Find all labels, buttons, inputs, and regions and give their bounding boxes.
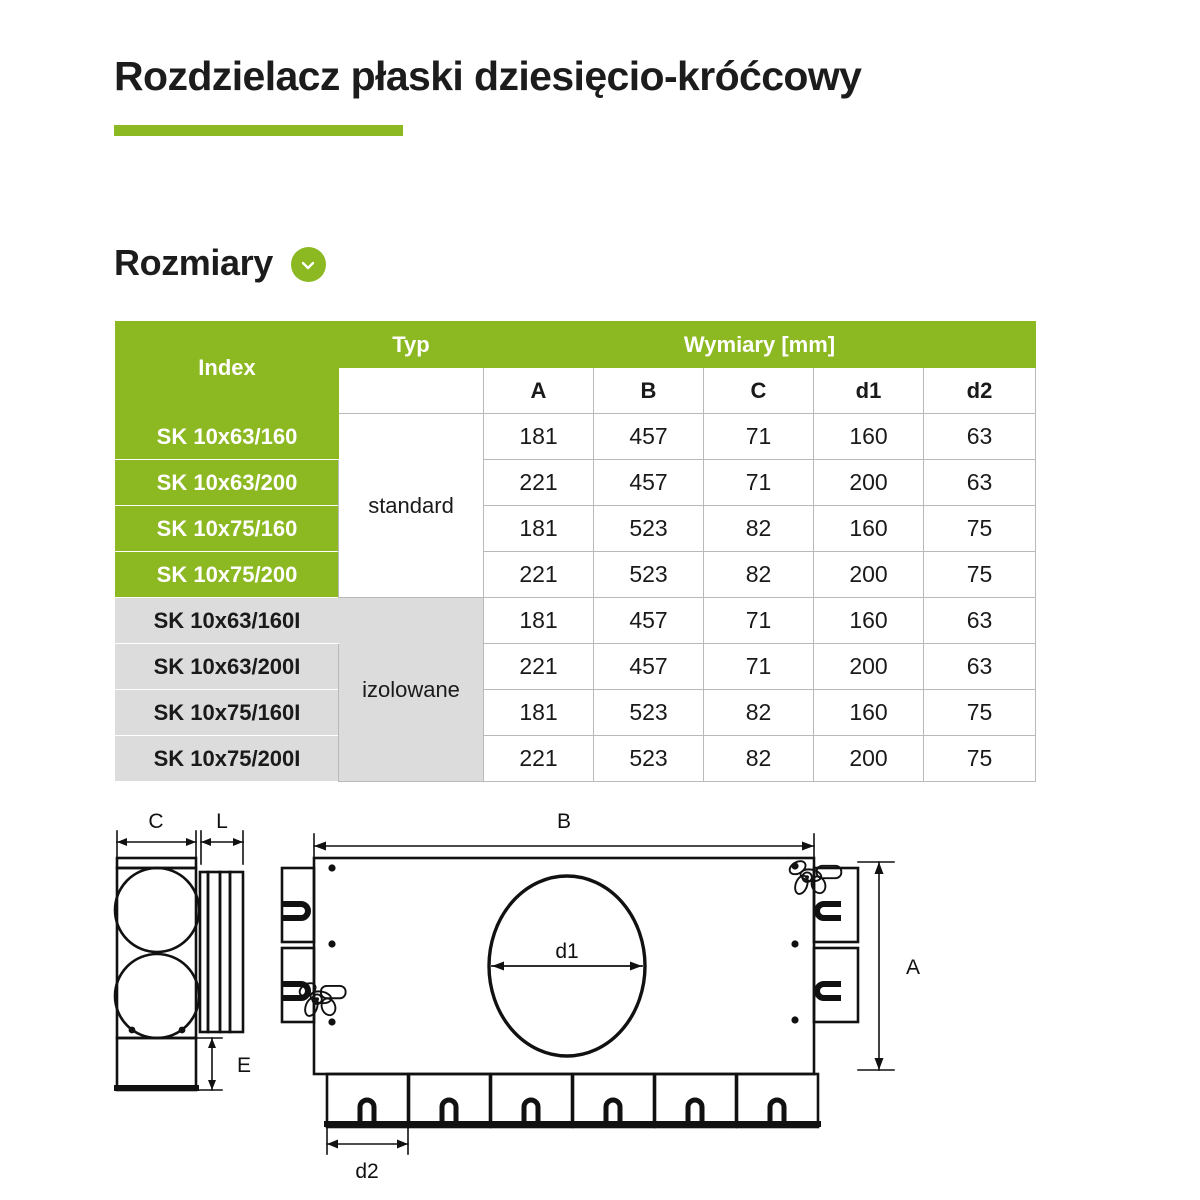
outlet-stub	[491, 1074, 572, 1127]
sizes-section-header[interactable]: Rozmiary	[114, 243, 326, 282]
cell-c: 82	[704, 506, 814, 552]
cell-b: 523	[594, 736, 704, 782]
table-row: SK 10x75/200I 221 523 82 200 75	[116, 736, 1036, 782]
cell-a: 221	[484, 460, 594, 506]
row-index: SK 10x75/160I	[116, 690, 339, 736]
label-d1: d1	[555, 940, 578, 963]
header-dim-a: A	[484, 368, 594, 414]
outlet-stub	[655, 1074, 736, 1127]
cell-b: 457	[594, 644, 704, 690]
cell-c: 82	[704, 736, 814, 782]
cell-d2: 75	[924, 736, 1036, 782]
label-d2: d2	[355, 1160, 378, 1183]
header-dim-b: B	[594, 368, 704, 414]
cell-d1: 160	[814, 414, 924, 460]
title-block: Rozdzielacz płaski dziesięcio-króćcowy	[114, 54, 1134, 136]
row-index: SK 10x63/160	[116, 414, 339, 460]
cell-a: 181	[484, 598, 594, 644]
row-index: SK 10x75/200	[116, 552, 339, 598]
label-a: A	[906, 956, 920, 979]
table-row: SK 10x75/200 221 523 82 200 75	[116, 552, 1036, 598]
outlet-stub	[327, 1074, 408, 1127]
side-circle-lower	[115, 954, 199, 1038]
product-datasheet-page: Rozdzielacz płaski dziesięcio-króćcowy R…	[0, 0, 1200, 1200]
table-row: SK 10x75/160 181 523 82 160 75	[116, 506, 1036, 552]
row-index: SK 10x63/160I	[116, 598, 339, 644]
cell-b: 523	[594, 506, 704, 552]
header-index: Index	[116, 322, 339, 414]
side-lower-box	[117, 1038, 196, 1090]
cell-c: 82	[704, 552, 814, 598]
dim-a	[858, 862, 894, 1070]
dim-e	[196, 1038, 222, 1090]
cell-c: 71	[704, 644, 814, 690]
row-index: SK 10x75/160	[116, 506, 339, 552]
cell-d1: 200	[814, 460, 924, 506]
spigot-rib-4	[230, 872, 243, 1032]
left-slot-upper	[285, 904, 308, 918]
row-index: SK 10x75/200I	[116, 736, 339, 782]
sizes-table: Index Typ Wymiary [mm] A B C d1 d2 SK 10…	[115, 321, 1036, 782]
header-dim-d1: d1	[814, 368, 924, 414]
table-row: SK 10x63/160 standard 181 457 71 160 63	[116, 414, 1036, 460]
cell-d1: 200	[814, 736, 924, 782]
cell-d2: 63	[924, 644, 1036, 690]
bottom-outlets	[327, 1074, 818, 1127]
cell-d2: 63	[924, 460, 1036, 506]
spigot-rib-3	[220, 872, 230, 1032]
cell-d1: 200	[814, 644, 924, 690]
cell-d1: 200	[814, 552, 924, 598]
chevron-down-icon[interactable]	[291, 247, 326, 282]
label-e: E	[237, 1054, 251, 1077]
table-row: SK 10x63/200I 221 457 71 200 63	[116, 644, 1036, 690]
dim-b	[314, 834, 814, 864]
technical-drawing: C L E B A d1 d2	[0, 806, 1200, 1200]
cell-a: 181	[484, 414, 594, 460]
title-accent-rule	[114, 125, 403, 136]
row-type: izolowane	[339, 598, 484, 782]
row-index: SK 10x63/200	[116, 460, 339, 506]
outlet-stub	[573, 1074, 654, 1127]
cell-d2: 75	[924, 506, 1036, 552]
side-top-flange	[117, 858, 196, 868]
outlet-stub	[737, 1074, 818, 1127]
cell-a: 181	[484, 506, 594, 552]
row-index: SK 10x63/200I	[116, 644, 339, 690]
header-typ-spacer	[339, 368, 484, 414]
cell-d2: 63	[924, 414, 1036, 460]
cell-d1: 160	[814, 506, 924, 552]
side-circle-upper	[115, 868, 199, 952]
header-wymiary: Wymiary [mm]	[484, 322, 1036, 368]
outlet-stub	[409, 1074, 490, 1127]
cell-c: 82	[704, 690, 814, 736]
header-typ: Typ	[339, 322, 484, 368]
cell-b: 457	[594, 414, 704, 460]
page-title: Rozdzielacz płaski dziesięcio-króćcowy	[114, 54, 1134, 100]
cell-b: 457	[594, 460, 704, 506]
cell-d1: 160	[814, 598, 924, 644]
table-row: SK 10x63/200 221 457 71 200 63	[116, 460, 1036, 506]
cell-a: 221	[484, 552, 594, 598]
label-c: C	[148, 810, 163, 833]
label-b: B	[557, 810, 571, 833]
cell-d2: 75	[924, 552, 1036, 598]
spigot-rib-2	[208, 872, 220, 1032]
right-slot-lower	[817, 984, 838, 998]
dim-l	[201, 831, 243, 864]
right-slot-upper	[817, 904, 838, 918]
table-header-row-top: Index Typ Wymiary [mm]	[116, 322, 1036, 368]
cell-a: 221	[484, 644, 594, 690]
cell-b: 457	[594, 598, 704, 644]
label-l: L	[216, 810, 228, 833]
cell-c: 71	[704, 460, 814, 506]
cell-c: 71	[704, 414, 814, 460]
cell-c: 71	[704, 598, 814, 644]
header-dim-c: C	[704, 368, 814, 414]
row-type: standard	[339, 414, 484, 598]
cell-b: 523	[594, 552, 704, 598]
cell-a: 221	[484, 736, 594, 782]
table-row: SK 10x75/160I 181 523 82 160 75	[116, 690, 1036, 736]
cell-d2: 75	[924, 690, 1036, 736]
cell-a: 181	[484, 690, 594, 736]
dim-d2	[327, 1124, 408, 1154]
table-row: SK 10x63/160I izolowane 181 457 71 160 6…	[116, 598, 1036, 644]
cell-d1: 160	[814, 690, 924, 736]
header-dim-d2: d2	[924, 368, 1036, 414]
section-title: Rozmiary	[114, 245, 273, 281]
cell-d2: 63	[924, 598, 1036, 644]
cell-b: 523	[594, 690, 704, 736]
